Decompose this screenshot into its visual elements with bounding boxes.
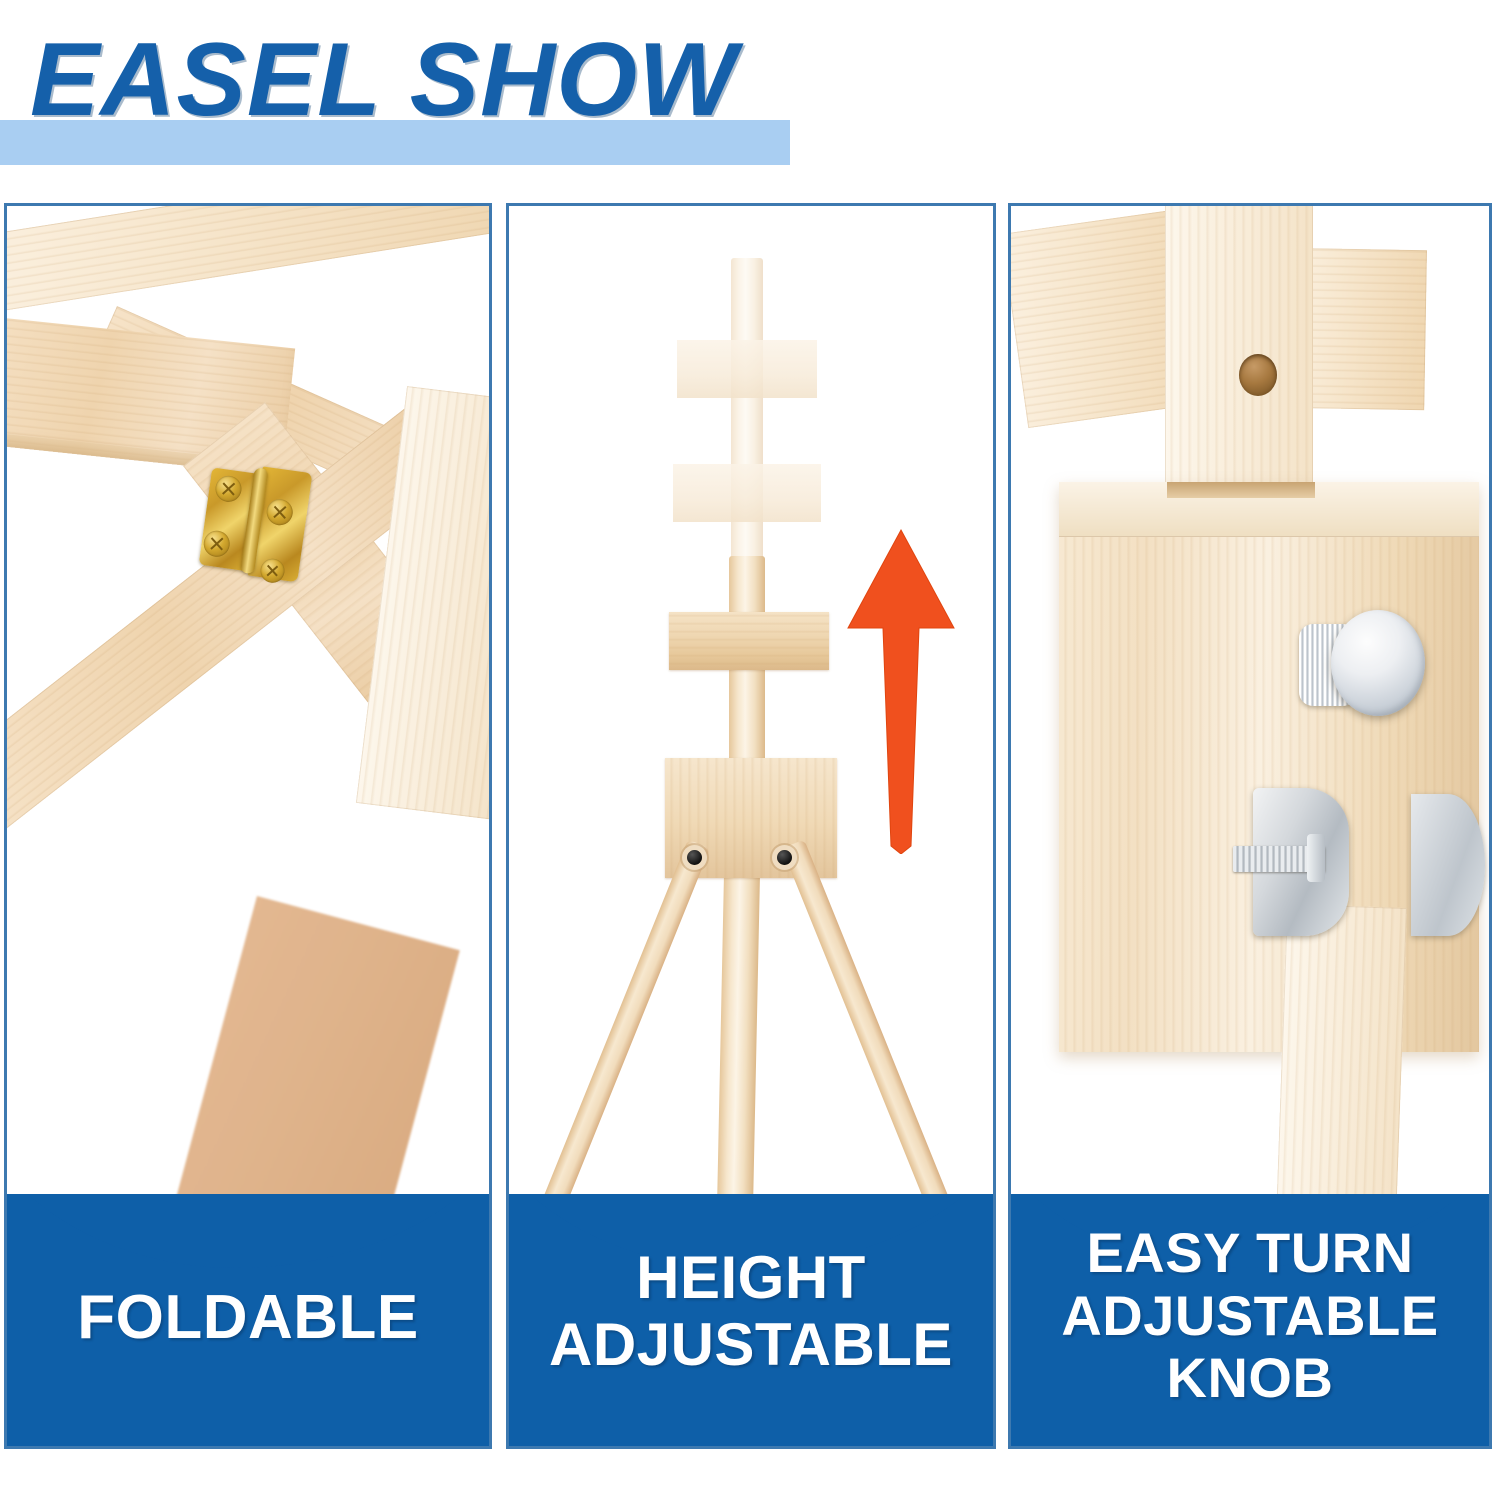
wood-grain bbox=[669, 612, 829, 670]
brass-hinge bbox=[195, 457, 316, 589]
pivot-bolt-right bbox=[777, 850, 792, 865]
wood-grain bbox=[1059, 482, 1479, 1052]
wooden-beam-top bbox=[7, 206, 489, 313]
wood-grain bbox=[7, 206, 489, 313]
feature-panel-row: FOLDABLE bbox=[0, 203, 1496, 1449]
post-slot bbox=[1167, 482, 1315, 498]
up-arrow-icon bbox=[841, 524, 961, 854]
cross-block bbox=[669, 612, 829, 670]
drill-hole bbox=[1239, 354, 1277, 396]
pivot-bolt-left bbox=[687, 850, 702, 865]
photo-foldable-hinge bbox=[7, 206, 489, 1206]
ghost-cross-block-2 bbox=[673, 464, 821, 522]
vertical-post bbox=[1165, 206, 1313, 490]
caption-height-adjustable: HEIGHT ADJUSTABLE bbox=[509, 1194, 993, 1446]
wood-grain bbox=[1165, 206, 1313, 490]
feature-panel-height-adjustable[interactable]: HEIGHT ADJUSTABLE bbox=[506, 203, 996, 1449]
caption-label: EASY TURN ADJUSTABLE KNOB bbox=[1011, 1194, 1489, 1446]
caption-foldable: FOLDABLE bbox=[7, 1194, 489, 1446]
metal-disc bbox=[1411, 794, 1485, 936]
background-blurred-leg bbox=[172, 896, 460, 1206]
tripod-leg-right bbox=[782, 840, 950, 1206]
page-title: EASEL SHOW bbox=[30, 28, 737, 132]
tripod-leg-left bbox=[542, 840, 710, 1206]
caption-label: HEIGHT ADJUSTABLE bbox=[509, 1194, 993, 1446]
bolt-washer bbox=[1307, 834, 1325, 882]
page-header: EASEL SHOW bbox=[0, 0, 1496, 200]
rear-vertical-rail bbox=[1276, 904, 1407, 1206]
photo-height-adjustable bbox=[509, 206, 993, 1206]
caption-label: FOLDABLE bbox=[7, 1194, 489, 1446]
ghost-cross-block-1 bbox=[677, 340, 817, 398]
wood-block bbox=[1059, 482, 1479, 1052]
center-pole-upper-ghost bbox=[731, 258, 763, 578]
feature-panel-foldable[interactable]: FOLDABLE bbox=[4, 203, 492, 1449]
chrome-knob[interactable] bbox=[1331, 610, 1425, 716]
photo-adjustable-knob bbox=[1011, 206, 1489, 1206]
feature-panel-adjustable-knob[interactable]: EASY TURN ADJUSTABLE KNOB bbox=[1008, 203, 1492, 1449]
caption-adjustable-knob: EASY TURN ADJUSTABLE KNOB bbox=[1011, 1194, 1489, 1446]
center-pole-lower bbox=[717, 826, 761, 1206]
wood-grain bbox=[1296, 248, 1427, 410]
crossbar-right bbox=[1296, 248, 1427, 410]
wood-grain bbox=[1276, 904, 1407, 1206]
